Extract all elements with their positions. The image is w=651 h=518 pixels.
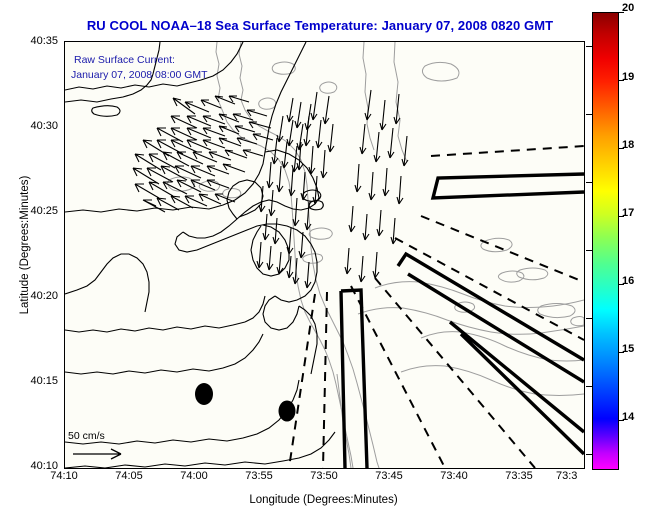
xtick-label-3: 73:55 (231, 470, 287, 482)
station-markers (195, 383, 296, 422)
shipping-lane-solid (341, 174, 584, 468)
colorbar-minor-tick-7 (586, 454, 592, 455)
colorbar-minor-tick-6 (586, 386, 592, 387)
ytick-label-4: 40:15 (6, 375, 58, 387)
colorbar-label-20: 20 (622, 2, 634, 14)
ytick-label-5: 40:10 (6, 460, 58, 472)
xaxis-title: Longitude (Degrees:Minutes) (64, 494, 583, 506)
map-axes[interactable]: Raw Surface Current: January 07, 2008 08… (64, 41, 585, 469)
page-title: RU COOL NOAA–18 Sea Surface Temperature:… (0, 18, 640, 33)
yaxis-title: Latitude (Degrees:Minutes) (19, 135, 31, 355)
xtick-label-8: 73:3 (556, 470, 606, 482)
colorbar-minor-tick-1 (586, 46, 592, 47)
xtick-label-5: 73:45 (361, 470, 417, 482)
colorbar-label-18: 18 (622, 139, 634, 151)
xtick-label-7: 73:35 (491, 470, 547, 482)
vector-scale-arrow (73, 449, 121, 459)
ytick-label-0: 40:35 (6, 35, 58, 47)
xtick-label-2: 74:00 (166, 470, 222, 482)
map-canvas (65, 42, 584, 468)
colorbar-label-15: 15 (622, 343, 634, 355)
colorbar-minor-tick-5 (586, 318, 592, 319)
colorbar-minor-tick-3 (586, 182, 592, 183)
colorbar-label-14: 14 (622, 411, 634, 423)
vector-scale-label: 50 cm/s (68, 430, 105, 442)
xtick-label-6: 73:40 (426, 470, 482, 482)
coastline (65, 42, 335, 468)
surface-current-vectors (133, 90, 408, 288)
bathymetry-contours (168, 42, 584, 468)
colorbar[interactable] (592, 12, 619, 470)
ytick-label-2: 40:25 (6, 205, 58, 217)
colorbar-minor-tick-2 (586, 114, 592, 115)
colorbar-label-16: 16 (622, 275, 634, 287)
ytick-label-3: 40:20 (6, 290, 58, 302)
xtick-label-4: 73:50 (296, 470, 352, 482)
ytick-label-1: 40:30 (6, 120, 58, 132)
colorbar-label-17: 17 (622, 207, 634, 219)
sst-figure: RU COOL NOAA–18 Sea Surface Temperature:… (0, 0, 651, 518)
colorbar-minor-tick-4 (586, 250, 592, 251)
colorbar-label-19: 19 (622, 71, 634, 83)
xtick-label-1: 74:05 (101, 470, 157, 482)
